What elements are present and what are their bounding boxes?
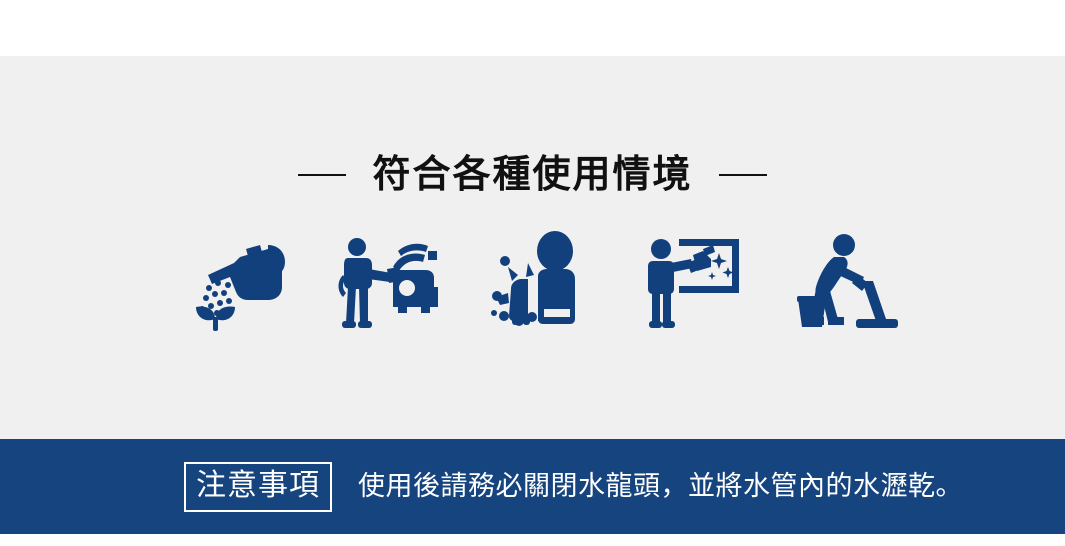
bottom-white-band bbox=[0, 534, 1065, 546]
notice-message: 使用後請務必關閉水龍頭，並將水管內的水瀝乾。 bbox=[358, 473, 963, 500]
watering-can-plant-icon bbox=[182, 231, 286, 331]
use-case-item-window-clean bbox=[634, 229, 752, 333]
page-root: 符合各種使用情境 bbox=[0, 0, 1065, 546]
use-case-item-watering bbox=[175, 229, 293, 333]
floor-mopping-icon bbox=[794, 231, 898, 331]
top-white-band bbox=[0, 0, 1065, 56]
heading-rule-right bbox=[719, 174, 767, 176]
use-case-item-car-wash bbox=[328, 229, 446, 333]
pet-washing-icon bbox=[488, 231, 592, 331]
use-case-item-floor-mop bbox=[787, 229, 905, 333]
page-title: 符合各種使用情境 bbox=[372, 156, 692, 194]
window-cleaning-icon bbox=[641, 231, 745, 331]
car-washing-icon bbox=[335, 231, 439, 331]
notice-tag-badge: 注意事項 bbox=[184, 462, 332, 512]
use-case-item-pet-wash bbox=[481, 229, 599, 333]
notice-bar: 注意事項 使用後請務必關閉水龍頭，並將水管內的水瀝乾。 bbox=[0, 439, 1065, 534]
section-heading: 符合各種使用情境 bbox=[0, 156, 1065, 194]
use-case-icon-strip bbox=[175, 226, 905, 336]
feature-panel: 符合各種使用情境 bbox=[0, 56, 1065, 439]
notice-inner: 注意事項 使用後請務必關閉水龍頭，並將水管內的水瀝乾。 bbox=[184, 462, 963, 512]
heading-rule-left bbox=[298, 174, 346, 176]
